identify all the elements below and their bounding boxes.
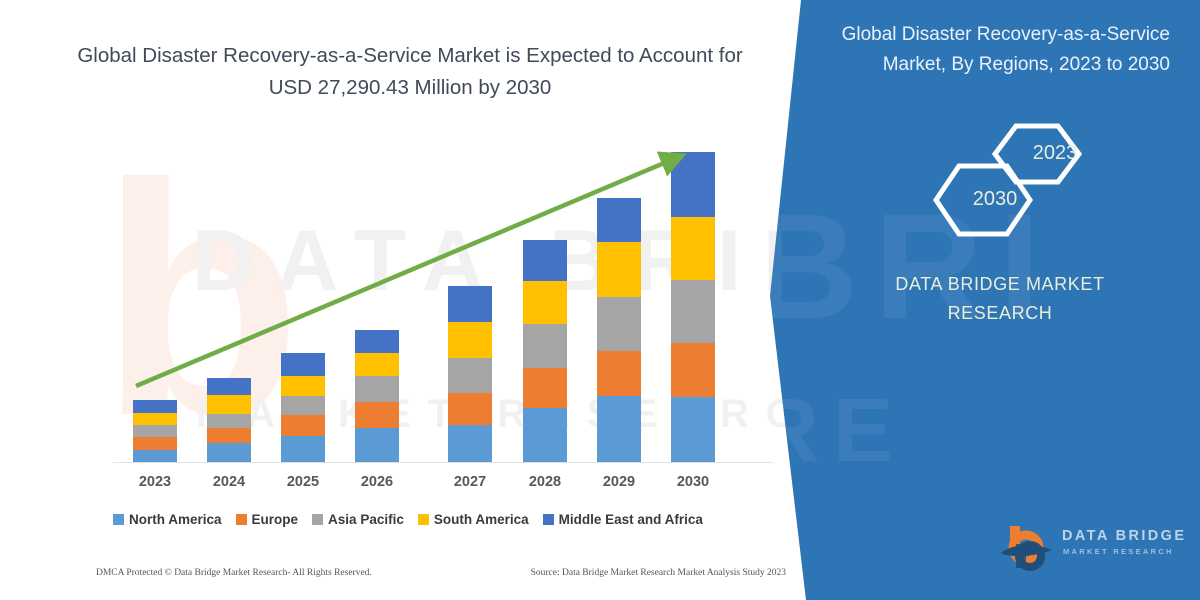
bar-2028[interactable] — [523, 240, 567, 462]
footer-copyright: DMCA Protected © Data Bridge Market Rese… — [96, 568, 372, 578]
x-axis-label-2030: 2030 — [658, 474, 728, 490]
x-axis-label-2028: 2028 — [510, 474, 580, 490]
x-axis-label-2024: 2024 — [194, 474, 264, 490]
legend-item-south-america[interactable]: South America — [418, 512, 529, 527]
segment-2025-asia-pacific[interactable] — [281, 396, 325, 415]
segment-2024-middle-east-and-africa[interactable] — [207, 378, 251, 395]
segment-2029-middle-east-and-africa[interactable] — [597, 198, 641, 242]
segment-2027-asia-pacific[interactable] — [448, 358, 492, 393]
logo-name: DATA BRIDGE — [1062, 528, 1186, 544]
bar-2029[interactable] — [597, 198, 641, 462]
legend-swatch-icon — [418, 514, 429, 525]
segment-2029-south-america[interactable] — [597, 242, 641, 297]
segment-2026-middle-east-and-africa[interactable] — [355, 330, 399, 353]
x-axis-label-2027: 2027 — [435, 474, 505, 490]
chart-legend: North AmericaEuropeAsia PacificSouth Ame… — [113, 512, 773, 527]
bar-2023[interactable] — [133, 400, 177, 462]
legend-swatch-icon — [236, 514, 247, 525]
legend-swatch-icon — [113, 514, 124, 525]
segment-2026-europe[interactable] — [355, 402, 399, 428]
segment-2025-south-america[interactable] — [281, 376, 325, 396]
x-axis-label-2029: 2029 — [584, 474, 654, 490]
panel-title: Global Disaster Recovery-as-a-Service Ma… — [840, 20, 1170, 80]
segment-2025-middle-east-and-africa[interactable] — [281, 353, 325, 376]
legend-label: North America — [129, 512, 222, 527]
segment-2026-south-america[interactable] — [355, 353, 399, 376]
segment-2028-asia-pacific[interactable] — [523, 324, 567, 368]
legend-item-asia-pacific[interactable]: Asia Pacific — [312, 512, 404, 527]
segment-2030-middle-east-and-africa[interactable] — [671, 152, 715, 217]
legend-item-middle-east-and-africa[interactable]: Middle East and Africa — [543, 512, 703, 527]
legend-item-north-america[interactable]: North America — [113, 512, 222, 527]
segment-2030-europe[interactable] — [671, 343, 715, 397]
segment-2028-europe[interactable] — [523, 368, 567, 408]
segment-2023-europe[interactable] — [133, 437, 177, 450]
hexagon-2023-shape — [995, 126, 1079, 182]
legend-label: Asia Pacific — [328, 512, 404, 527]
segment-2028-north-america[interactable] — [523, 408, 567, 462]
legend-label: Europe — [252, 512, 299, 527]
x-axis-line — [113, 462, 773, 463]
segment-2024-asia-pacific[interactable] — [207, 414, 251, 428]
legend-swatch-icon — [543, 514, 554, 525]
segment-2023-asia-pacific[interactable] — [133, 425, 177, 437]
segment-2024-europe[interactable] — [207, 428, 251, 443]
segment-2025-north-america[interactable] — [281, 436, 325, 462]
segment-2029-asia-pacific[interactable] — [597, 297, 641, 351]
hexagon-label-2030: 2030 — [960, 188, 1030, 211]
segment-2026-asia-pacific[interactable] — [355, 376, 399, 402]
segment-2026-north-america[interactable] — [355, 428, 399, 462]
segment-2023-north-america[interactable] — [133, 450, 177, 462]
x-axis-label-2023: 2023 — [120, 474, 190, 490]
legend-swatch-icon — [312, 514, 323, 525]
legend-label: Middle East and Africa — [559, 512, 703, 527]
segment-2028-middle-east-and-africa[interactable] — [523, 240, 567, 281]
x-axis-label-2026: 2026 — [342, 474, 412, 490]
segment-2023-middle-east-and-africa[interactable] — [133, 400, 177, 413]
legend-label: South America — [434, 512, 529, 527]
segment-2030-south-america[interactable] — [671, 217, 715, 280]
segment-2024-north-america[interactable] — [207, 443, 251, 462]
footer-source: Source: Data Bridge Market Research Mark… — [531, 568, 786, 578]
segment-2029-europe[interactable] — [597, 351, 641, 396]
bar-2025[interactable] — [281, 353, 325, 462]
segment-2025-europe[interactable] — [281, 415, 325, 436]
bar-2024[interactable] — [207, 378, 251, 462]
logo-tagline: MARKET RESEARCH — [1063, 547, 1174, 556]
bar-2030[interactable] — [671, 152, 715, 462]
infographic-page: b DATA BRIDGE MARKET RESEARCH Global Dis… — [0, 0, 1200, 600]
segment-2027-north-america[interactable] — [448, 425, 492, 462]
footer: DMCA Protected © Data Bridge Market Rese… — [96, 568, 786, 578]
segment-2023-south-america[interactable] — [133, 413, 177, 425]
segment-2027-middle-east-and-africa[interactable] — [448, 286, 492, 322]
stacked-bar-chart: 20232024202520262027202820292030 — [0, 0, 800, 600]
bar-2026[interactable] — [355, 330, 399, 462]
segment-2027-south-america[interactable] — [448, 322, 492, 358]
segment-2028-south-america[interactable] — [523, 281, 567, 324]
segment-2030-asia-pacific[interactable] — [671, 280, 715, 343]
company-logo: DATA BRIDGE MARKET RESEARCH — [1000, 522, 1190, 574]
segment-2029-north-america[interactable] — [597, 396, 641, 462]
x-axis-label-2025: 2025 — [268, 474, 338, 490]
segment-2024-south-america[interactable] — [207, 395, 251, 414]
hexagon-label-2023: 2023 — [1020, 142, 1090, 165]
bar-2027[interactable] — [448, 286, 492, 462]
legend-item-europe[interactable]: Europe — [236, 512, 299, 527]
segment-2030-north-america[interactable] — [671, 397, 715, 462]
segment-2027-europe[interactable] — [448, 393, 492, 425]
logo-b-mark-icon — [1000, 522, 1060, 572]
